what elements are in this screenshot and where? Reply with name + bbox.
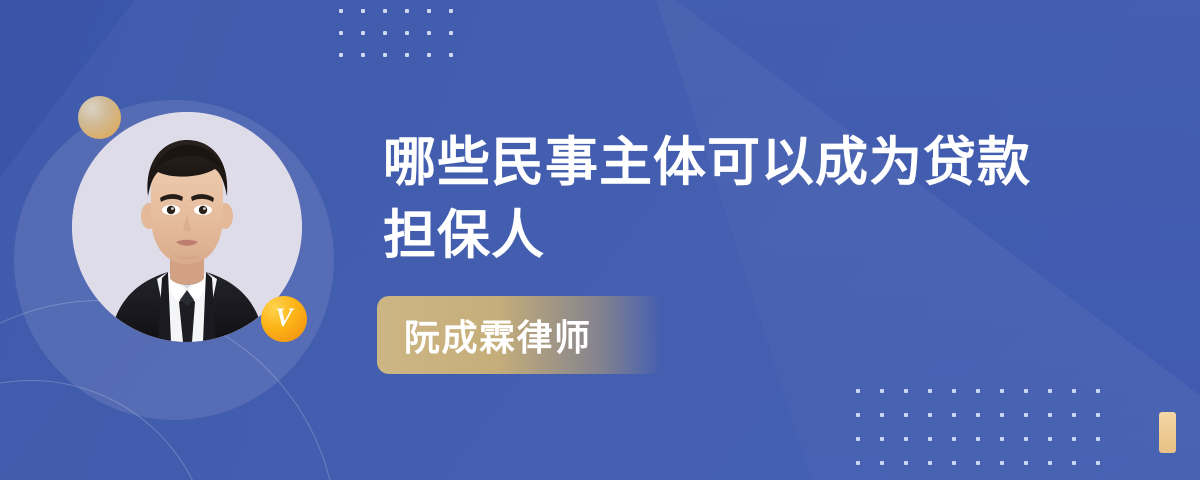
dot (361, 31, 365, 35)
author-name-badge: 阮成霖律师 (377, 296, 662, 374)
gold-circle-decoration (78, 96, 121, 139)
dot (904, 461, 908, 465)
dot (1072, 461, 1076, 465)
dot-grid-top-decoration (339, 9, 471, 75)
lawyer-article-banner: V 哪些民事主体可以成为贷款担保人 阮成霖律师 (0, 0, 1200, 480)
dot (856, 437, 860, 441)
dot (1072, 413, 1076, 417)
dot (1096, 437, 1100, 441)
verified-badge-label: V (275, 305, 292, 331)
dot (1096, 461, 1100, 465)
dot (880, 413, 884, 417)
dot (880, 389, 884, 393)
dot (1072, 389, 1076, 393)
dot (1024, 437, 1028, 441)
dot (339, 9, 343, 13)
dot (1000, 461, 1004, 465)
dot (856, 461, 860, 465)
dot (383, 31, 387, 35)
dot (880, 437, 884, 441)
gold-accent-bar (1159, 412, 1176, 453)
dot (405, 31, 409, 35)
dot (339, 31, 343, 35)
dot (1096, 389, 1100, 393)
dot (1048, 437, 1052, 441)
dot (904, 413, 908, 417)
dot (1048, 413, 1052, 417)
dot (904, 389, 908, 393)
dot (976, 437, 980, 441)
dot (339, 53, 343, 57)
dot (1000, 437, 1004, 441)
dot (449, 31, 453, 35)
dot (1096, 413, 1100, 417)
dot (449, 53, 453, 57)
page-title: 哪些民事主体可以成为贷款担保人 (383, 126, 1083, 272)
dot (1024, 389, 1028, 393)
verified-badge-icon: V (261, 296, 307, 342)
dot (1048, 389, 1052, 393)
dot (1024, 461, 1028, 465)
dot (976, 389, 980, 393)
dot (976, 413, 980, 417)
dot (405, 9, 409, 13)
dot (928, 389, 932, 393)
dot (1072, 437, 1076, 441)
dot (976, 461, 980, 465)
dot (856, 413, 860, 417)
dot (383, 53, 387, 57)
dot (449, 9, 453, 13)
dot (928, 437, 932, 441)
dot (856, 389, 860, 393)
dot (427, 9, 431, 13)
dot (1024, 413, 1028, 417)
dot (880, 461, 884, 465)
dot (1048, 461, 1052, 465)
dot (928, 461, 932, 465)
page-title-text: 哪些民事主体可以成为贷款担保人 (383, 132, 1031, 266)
dot (952, 437, 956, 441)
dot-grid-bottom-decoration (856, 389, 1120, 480)
dot (383, 9, 387, 13)
dot (1000, 389, 1004, 393)
dot (427, 31, 431, 35)
dot (405, 53, 409, 57)
dot (952, 413, 956, 417)
dot (928, 413, 932, 417)
dot (952, 389, 956, 393)
dot (361, 53, 365, 57)
dot (904, 437, 908, 441)
dot (361, 9, 365, 13)
author-name-label: 阮成霖律师 (377, 309, 592, 361)
dot (427, 53, 431, 57)
dot (1000, 413, 1004, 417)
dot (952, 461, 956, 465)
